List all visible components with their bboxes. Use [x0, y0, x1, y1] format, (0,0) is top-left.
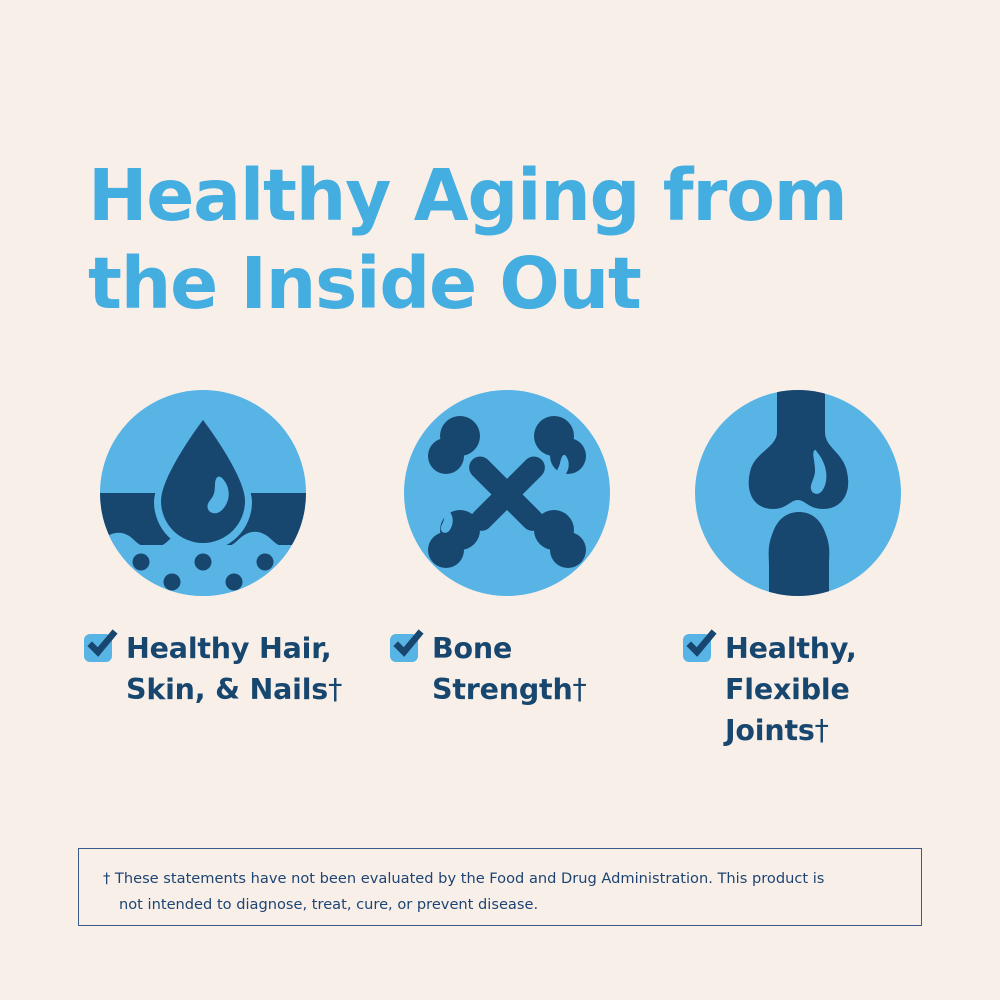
benefit-label: Bone Strength†: [432, 628, 587, 710]
knee-joint-icon: [695, 390, 901, 596]
benefit-label-line-2: Flexible: [725, 669, 857, 710]
dagger-symbol: †: [815, 714, 829, 747]
skin-layers-droplet-icon: [100, 390, 306, 596]
benefit-label-line-1: Healthy Hair,: [126, 628, 342, 669]
benefit-label-line-1: Healthy,: [725, 628, 857, 669]
disclaimer-box: † These statements have not been evaluat…: [78, 848, 922, 926]
disclaimer-line-2: not intended to diagnose, treat, cure, o…: [103, 892, 913, 918]
crossed-bones-icon: [404, 390, 610, 596]
page-title: Healthy Aging from the Inside Out: [88, 152, 938, 328]
benefit-label: Healthy Hair, Skin, & Nails†: [126, 628, 342, 710]
page-title-line-2: the Inside Out: [88, 240, 938, 328]
benefit-label-line-2: Strength†: [432, 669, 587, 710]
benefit-label-line-3: Joints†: [725, 710, 857, 751]
benefit-label-line-3-text: Joints: [725, 714, 815, 747]
dagger-symbol: †: [328, 673, 342, 706]
checkbox-checked-icon[interactable]: [84, 634, 112, 662]
dagger-symbol: †: [573, 673, 587, 706]
benefit-item-flexible-joints[interactable]: Healthy, Flexible Joints†: [683, 628, 943, 751]
checkbox-checked-icon[interactable]: [683, 634, 711, 662]
benefit-item-bone-strength[interactable]: Bone Strength†: [390, 628, 650, 710]
benefit-label: Healthy, Flexible Joints†: [725, 628, 857, 751]
benefit-label-line-1: Bone: [432, 628, 587, 669]
benefit-label-line-2-text: Skin, & Nails: [126, 673, 328, 706]
disclaimer-line-1: † These statements have not been evaluat…: [103, 866, 913, 892]
benefit-label-line-2-text: Strength: [432, 673, 573, 706]
benefit-item-hair-skin-nails[interactable]: Healthy Hair, Skin, & Nails†: [84, 628, 354, 710]
disclaimer-text: † These statements have not been evaluat…: [103, 866, 913, 918]
infographic-canvas: Healthy Aging from the Inside Out: [0, 0, 1000, 1000]
page-title-line-1: Healthy Aging from: [88, 152, 938, 240]
benefit-label-line-2: Skin, & Nails†: [126, 669, 342, 710]
checkbox-checked-icon[interactable]: [390, 634, 418, 662]
benefit-icons-row: [0, 390, 1000, 600]
